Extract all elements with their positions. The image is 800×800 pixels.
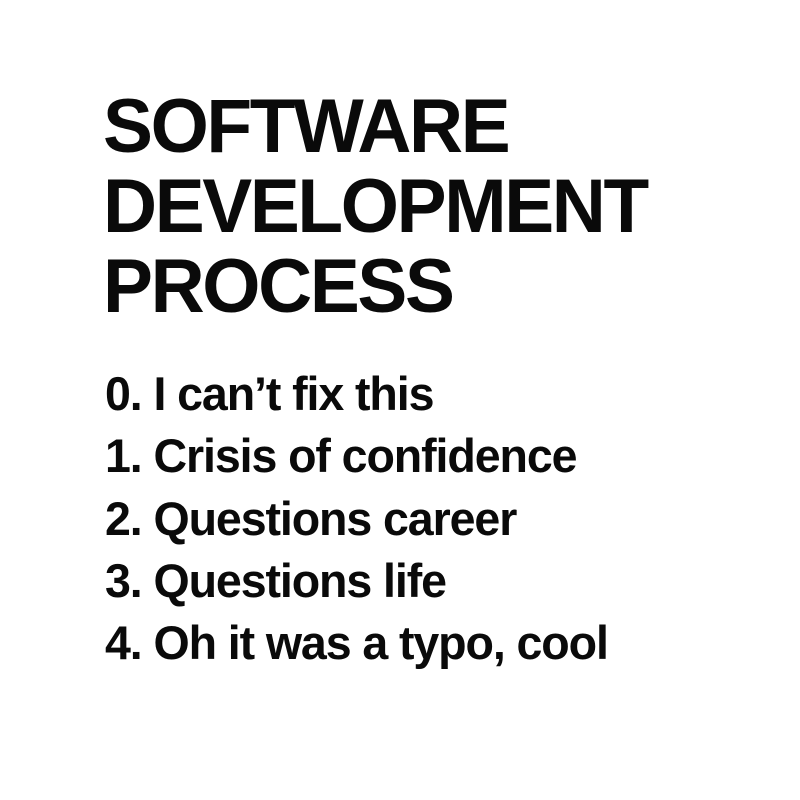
process-step-list: 0. I can’t fix this 1. Crisis of confide…	[105, 363, 765, 674]
page-title: SOFTWARE DEVELOPMENT PROCESS	[103, 87, 743, 327]
list-item-1: 1. Crisis of confidence	[105, 425, 758, 487]
list-item-0: 0. I can’t fix this	[105, 363, 758, 425]
list-item-4: 4. Oh it was a typo, cool	[105, 612, 758, 674]
title-line-2: DEVELOPMENT	[103, 167, 733, 247]
title-line-3: PROCESS	[103, 247, 733, 327]
title-line-1: SOFTWARE	[103, 87, 733, 167]
list-item-2: 2. Questions career	[105, 488, 758, 550]
poster-canvas: SOFTWARE DEVELOPMENT PROCESS 0. I can’t …	[0, 0, 800, 800]
list-item-3: 3. Questions life	[105, 550, 758, 612]
